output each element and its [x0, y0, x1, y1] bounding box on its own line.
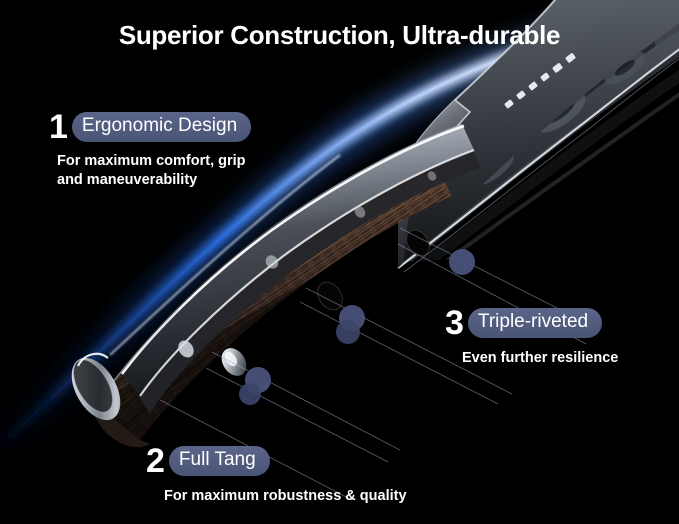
- pommel-end-cap: [62, 350, 131, 429]
- handle-rivets: [175, 170, 438, 381]
- callout-3-title: Triple-riveted: [468, 308, 602, 338]
- callout-2-number: 2: [146, 446, 164, 476]
- callout-1-subtitle: For maximum comfort, grip and maneuverab…: [57, 152, 251, 190]
- callout-2-title: Full Tang: [169, 446, 270, 476]
- steel-bolster: [398, 100, 470, 268]
- callout-3-subtitle: Even further resilience: [462, 349, 618, 368]
- infographic-canvas: Superior Construction, Ultra-durable 1 E…: [0, 0, 679, 524]
- callout-3: 3 Triple-riveted Even further resilience: [445, 306, 618, 368]
- callout-3-number: 3: [445, 308, 463, 338]
- page-title: Superior Construction, Ultra-durable: [0, 20, 679, 51]
- callout-1-head: 1 Ergonomic Design: [49, 110, 251, 144]
- callout-3-head: 3 Triple-riveted: [445, 306, 618, 340]
- callout-2: 2 Full Tang For maximum robustness & qua…: [146, 444, 407, 506]
- blade-spine-jimping: [504, 53, 576, 109]
- callout-1-title: Ergonomic Design: [72, 112, 251, 142]
- callout-1: 1 Ergonomic Design For maximum comfort, …: [49, 110, 251, 190]
- callout-1-number: 1: [49, 112, 67, 142]
- callout-2-subtitle: For maximum robustness & quality: [164, 487, 407, 506]
- callout-2-head: 2 Full Tang: [146, 444, 407, 478]
